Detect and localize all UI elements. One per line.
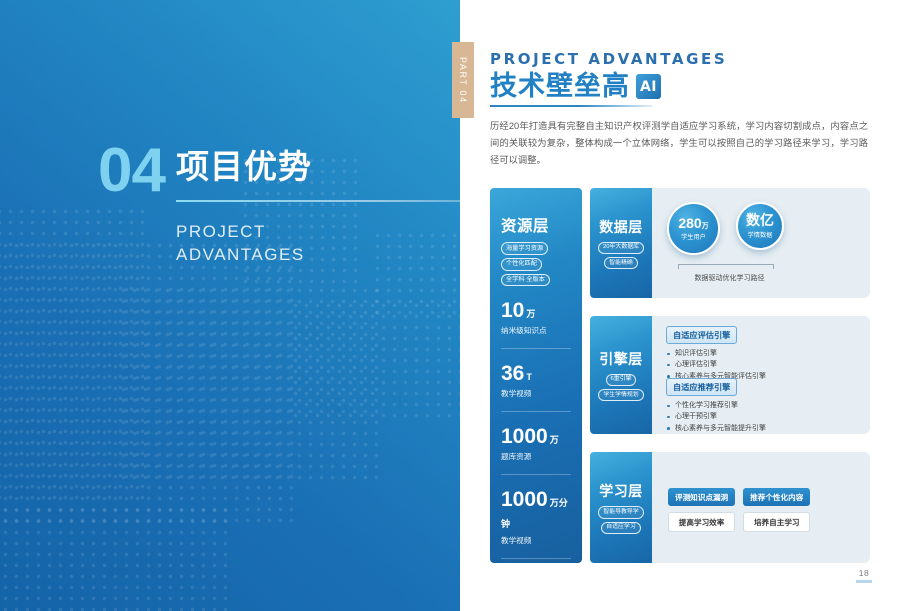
left-cover-panel: 04 项目优势 PROJECT ADVANTAGES — [0, 0, 460, 611]
dot-pattern-icon — [0, 505, 230, 611]
section-title-en-line1: PROJECT — [176, 221, 305, 244]
bubble-number: 280 — [678, 215, 701, 231]
resource-layer-chips: 海量学习资源 个性化匹配 全学科 全版本 — [501, 242, 571, 286]
engine-list-item: 核心素养与多元智能提升引擎 — [666, 423, 766, 434]
stat-unit: T — [526, 372, 532, 382]
header-title: 技术壁垒高 — [490, 72, 630, 102]
engine-block: 自适应评估引擎 知识评估引擎 心理评估引擎 核心素养与多元智能评估引擎 — [666, 325, 766, 382]
data-layer-name: 数据层 — [599, 217, 643, 237]
stat-item: 1000万分钟 教学视频 — [501, 489, 571, 546]
data-bubbles: 280万 学生用户 数亿 学情数据 数据驱动优化学习路径 — [652, 188, 870, 298]
pill-badge[interactable]: 推荐个性化内容 — [743, 488, 810, 506]
chip: 6重引擎 — [606, 374, 637, 386]
stat-value: 10万 — [501, 300, 571, 321]
stat-divider — [501, 474, 571, 475]
section-number: 04 — [98, 140, 165, 202]
bubble-value: 数亿 — [746, 213, 774, 227]
stat-value: 36T — [501, 363, 571, 384]
bubble-label: 学生用户 — [681, 232, 706, 241]
stat-number: 1000 — [501, 488, 548, 511]
stat-number: 10 — [501, 299, 524, 322]
resource-layer-name: 资源层 — [501, 214, 571, 236]
header-title-row: 技术壁垒高 AI — [490, 72, 880, 102]
stat-divider — [501, 411, 571, 412]
learn-layer-row[interactable]: 学习层 智能导教导学 自适应学习 评测知识点漏洞 推荐个性化内容 提高学习效率 … — [590, 452, 870, 563]
chip: 个性化匹配 — [501, 258, 542, 271]
bracket-icon — [678, 264, 774, 269]
engine-layer-tab: 引擎层 6重引擎 学生学情规划 — [590, 316, 652, 434]
stat-item: 36T 教学视频 — [501, 363, 571, 399]
pill-badge[interactable]: 培养自主学习 — [743, 512, 810, 532]
section-title-en: PROJECT ADVANTAGES — [176, 221, 305, 267]
stat-divider — [501, 348, 571, 349]
learn-layer-tab: 学习层 智能导教导学 自适应学习 — [590, 452, 652, 563]
chip: 智能导教导学 — [598, 506, 643, 518]
engine-list-item: 个性化学习推荐引擎 — [666, 400, 766, 411]
engine-layer-body: 自适应评估引擎 知识评估引擎 心理评估引擎 核心素养与多元智能评估引擎 自适应推… — [652, 316, 870, 434]
pill-badge[interactable]: 提高学习效率 — [668, 512, 735, 532]
stat-label: 教学视频 — [501, 388, 571, 399]
dot-pattern-icon — [372, 230, 460, 320]
stat-value: 1000万分钟 — [501, 489, 571, 531]
learn-layer-pills: 评测知识点漏洞 推荐个性化内容 提高学习效率 培养自主学习 — [668, 488, 810, 532]
chip: 20年大数据库 — [598, 242, 644, 254]
header-title-underline — [490, 105, 652, 108]
stat-bubble: 280万 学生用户 — [667, 202, 720, 255]
pill-badge[interactable]: 评测知识点漏洞 — [668, 488, 735, 506]
engine-block: 自适应推荐引擎 个性化学习推荐引擎 心理干预引擎 核心素养与多元智能提升引擎 — [666, 377, 766, 434]
bubble-number: 数亿 — [746, 212, 774, 228]
data-layer-body: 280万 学生用户 数亿 学情数据 数据驱动优化学习路径 — [652, 188, 870, 298]
stat-unit: 万 — [526, 309, 535, 319]
engine-layer-name: 引擎层 — [599, 349, 643, 369]
page-number-underline — [856, 580, 872, 583]
bubble-label: 学情数据 — [748, 230, 773, 239]
page-number-text: 18 — [856, 568, 872, 578]
chip: 智能精确 — [604, 257, 638, 269]
engine-block-title: 自适应推荐引擎 — [666, 378, 737, 396]
slide-page: 04 项目优势 PROJECT ADVANTAGES PART 04 PROJE… — [0, 0, 900, 611]
learn-layer-chips: 智能导教导学 自适应学习 — [598, 506, 643, 534]
data-layer-chips: 20年大数据库 智能精确 — [598, 242, 644, 270]
stat-label: 题库资源 — [501, 451, 571, 462]
data-layer-tab: 数据层 20年大数据库 智能精确 — [590, 188, 652, 298]
stat-number: 36 — [501, 362, 524, 385]
right-content-panel: PROJECT ADVANTAGES 技术壁垒高 AI 历经20年打造具有完整自… — [460, 0, 900, 611]
learn-layer-body: 评测知识点漏洞 推荐个性化内容 提高学习效率 培养自主学习 — [652, 452, 870, 563]
engine-list-item: 心理评估引擎 — [666, 359, 766, 370]
stat-item: 1000万 题库资源 — [501, 426, 571, 462]
engine-layer-chips: 6重引擎 学生学情规划 — [598, 374, 643, 402]
stat-label: 纳米级知识点 — [501, 325, 571, 336]
bubble-value: 280万 — [678, 216, 708, 230]
header-eyebrow: PROJECT ADVANTAGES — [490, 50, 880, 68]
chip: 学生学情规划 — [598, 389, 643, 401]
learn-layer-name: 学习层 — [599, 481, 643, 501]
engine-block-list: 个性化学习推荐引擎 心理干预引擎 核心素养与多元智能提升引擎 — [666, 400, 766, 434]
stat-number: 1000 — [501, 425, 548, 448]
chip: 自适应学习 — [601, 522, 640, 534]
engine-list-item: 心理干预引擎 — [666, 411, 766, 422]
chip: 海量学习资源 — [501, 242, 548, 255]
stat-unit: 万 — [550, 435, 559, 445]
engine-layer-row[interactable]: 引擎层 6重引擎 学生学情规划 自适应评估引擎 知识评估引擎 心理评估引擎 核心… — [590, 316, 870, 434]
resource-layer-card[interactable]: 资源层 海量学习资源 个性化匹配 全学科 全版本 10万 纳米级知识点 36T … — [490, 188, 582, 563]
data-layer-caption: 数据驱动优化学习路径 — [652, 273, 807, 283]
ai-badge-icon: AI — [636, 74, 661, 99]
stat-bubble: 数亿 学情数据 — [736, 202, 784, 250]
section-title-cn: 项目优势 — [176, 150, 312, 183]
layer-diagram: 资源层 海量学习资源 个性化匹配 全学科 全版本 10万 纳米级知识点 36T … — [490, 188, 870, 563]
title-divider — [176, 200, 460, 202]
chip: 全学科 全版本 — [501, 274, 550, 287]
engine-block-title: 自适应评估引擎 — [666, 326, 737, 344]
stat-divider — [501, 558, 571, 559]
page-number: 18 — [856, 568, 872, 583]
section-title-en-line2: ADVANTAGES — [176, 244, 305, 267]
intro-paragraph: 历经20年打造具有完整自主知识产权评测学自适应学习系统，学习内容切割成点，内容点… — [490, 118, 868, 170]
data-layer-row[interactable]: 数据层 20年大数据库 智能精确 280万 学生用户 数亿 — [590, 188, 870, 298]
engine-list-item: 知识评估引擎 — [666, 348, 766, 359]
stat-label: 教学视频 — [501, 535, 571, 546]
content-header: PROJECT ADVANTAGES 技术壁垒高 AI — [490, 50, 880, 107]
stat-item: 10万 纳米级知识点 — [501, 300, 571, 336]
stat-value: 1000万 — [501, 426, 571, 447]
bubble-unit: 万 — [702, 223, 709, 230]
